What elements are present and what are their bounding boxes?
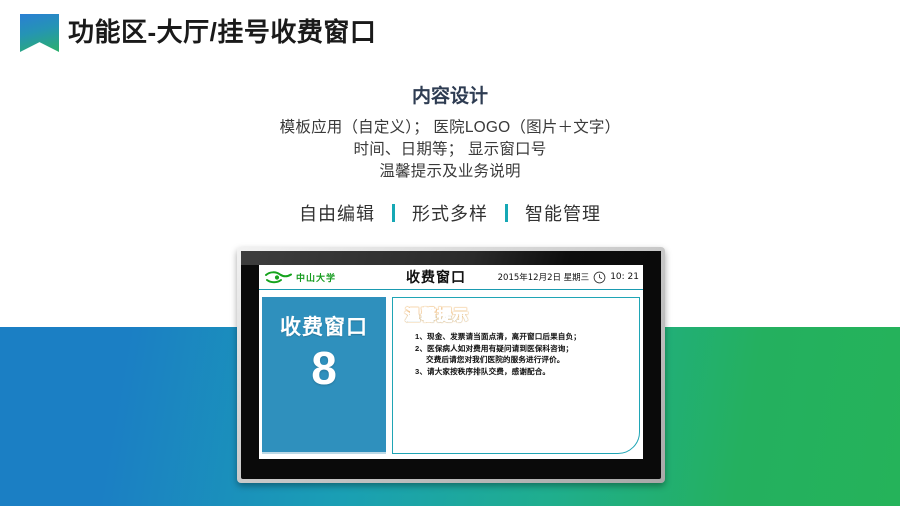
bookmark-ribbon-icon [20, 14, 59, 52]
screen-title: 收费窗口 [379, 267, 493, 287]
window-number-value: 8 [311, 343, 337, 393]
page-title: 功能区-大厅/挂号收费窗口 [68, 13, 376, 51]
description-line-3: 温馨提示及业务说明 [0, 161, 900, 183]
screen-body: 收费窗口 8 温馨提示 1、现金、发票请当面点清，离开窗口后果自负； 2、医保病… [259, 292, 643, 459]
tag-varied-forms: 形式多样 [412, 200, 488, 226]
screen-time: 10: 21 [610, 272, 639, 282]
tips-panel: 温馨提示 1、现金、发票请当面点清，离开窗口后果自负； 2、医保病人如对费用有疑… [392, 297, 640, 454]
tips-list: 1、现金、发票请当面点清，离开窗口后果自负； 2、医保病人如对费用有疑问请到医保… [401, 331, 635, 377]
clock-icon [593, 271, 606, 284]
tag-separator-icon [505, 204, 508, 222]
description-line-2: 时间、日期等； 显示窗口号 [0, 139, 900, 161]
section-title: 内容设计 [0, 84, 900, 110]
display-screen: 中山大学 收费窗口 2015年12月2日 星期三 10: 21 收费窗口 8 温… [259, 265, 643, 459]
section-description: 模板应用（自定义）； 医院LOGO（图片＋文字） 时间、日期等； 显示窗口号 温… [0, 117, 900, 183]
tip-item: 2、医保病人如对费用有疑问请到医保科咨询； [415, 343, 635, 355]
monitor-mockup: 中山大学 收费窗口 2015年12月2日 星期三 10: 21 收费窗口 8 温… [237, 247, 665, 483]
screen-date: 2015年12月2日 星期三 [498, 271, 590, 283]
description-line-1: 模板应用（自定义）； 医院LOGO（图片＋文字） [0, 117, 900, 139]
tip-item: 3、请大家按秩序排队交费，感谢配合。 [415, 366, 635, 378]
tip-item: 1、现金、发票请当面点清，离开窗口后果自负； [415, 331, 635, 343]
bezel-gloss-highlight [241, 251, 661, 265]
window-number-panel: 收费窗口 8 [262, 297, 386, 454]
tip-item-continued: 交费后请您对我们医院的服务进行评价。 [415, 354, 635, 366]
feature-tagline: 自由编辑 形式多样 智能管理 [0, 200, 900, 226]
university-swoosh-logo-icon [265, 271, 293, 284]
hospital-logo-text: 中山大学 [296, 271, 336, 284]
tag-smart-manage: 智能管理 [525, 200, 601, 226]
hospital-logo: 中山大学 [259, 271, 379, 284]
tag-separator-icon [392, 204, 395, 222]
tag-free-edit: 自由编辑 [299, 200, 375, 226]
slide-header: 功能区-大厅/挂号收费窗口 [0, 0, 900, 62]
tips-title: 温馨提示 [405, 304, 469, 325]
window-panel-label: 收费窗口 [280, 311, 368, 341]
content-block: 内容设计 模板应用（自定义）； 医院LOGO（图片＋文字） 时间、日期等； 显示… [0, 84, 900, 226]
screen-header-bar: 中山大学 收费窗口 2015年12月2日 星期三 10: 21 [259, 265, 643, 290]
screen-datetime: 2015年12月2日 星期三 10: 21 [493, 271, 643, 284]
